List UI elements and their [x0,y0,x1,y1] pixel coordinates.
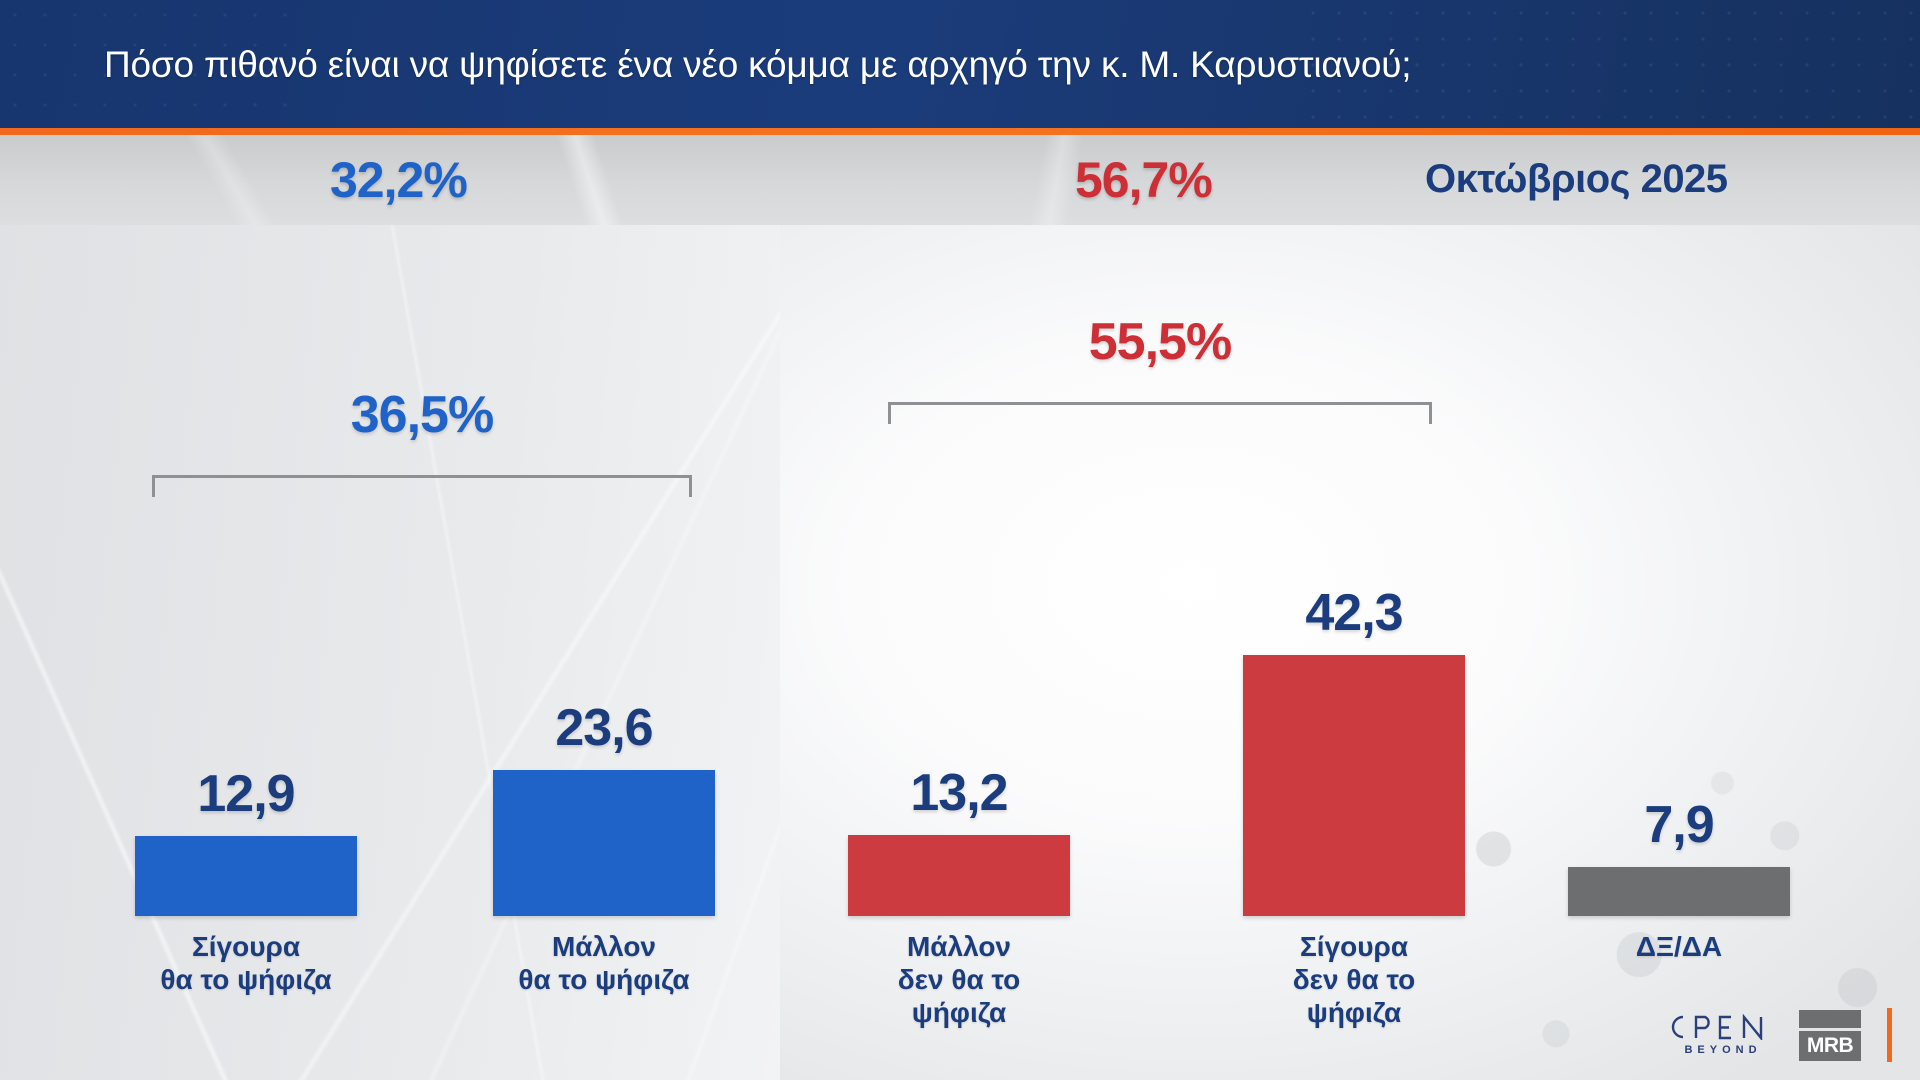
bar-column: 7,9ΔΞ/ΔΑ [1568,867,1790,916]
bar-rect [1243,655,1465,916]
bracket-tick-right [689,475,692,497]
bracket-span-line [888,402,1432,405]
bar-rect [1568,867,1790,916]
bar-column: 23,6Μάλλον θα το ψήφιζα [493,770,715,916]
footer-logos: BEYOND MRB [1669,1008,1892,1062]
open-wordmark [1669,1014,1773,1040]
mrb-logo-name-block: MRB [1799,1031,1861,1061]
header-band: Πόσο πιθανό είναι να ψηφίσετε ένα νέο κό… [0,0,1920,128]
bracket-tick-left [152,475,155,497]
bar-category-label: Μάλλον δεν θα το ψήφιζα [848,930,1070,1029]
bar-rect [848,835,1070,916]
bar-value-label: 7,9 [1568,795,1790,855]
bar-value-label: 23,6 [493,698,715,758]
summary-strip: 32,2% 56,7% Οκτώβριος 2025 [0,135,1920,225]
bracket-tick-left [888,402,891,424]
bar-column: 42,3Σίγουρα δεν θα το ψήφιζα [1243,655,1465,916]
chart-plot-area: 36,5% 55,5% 12,9Σίγουρα θα το ψήφιζα23,6… [0,225,1920,1080]
mrb-logo-text: MRB [1807,1034,1853,1058]
bar-category-label: Μάλλον θα το ψήφιζα [493,930,715,996]
summary-negative-total: 56,7% [1075,151,1212,209]
mrb-logo: MRB [1799,1010,1861,1061]
summary-positive-total: 32,2% [330,151,467,209]
open-letters-icon [1669,1014,1773,1040]
bar-value-label: 12,9 [135,764,357,824]
bar-column: 12,9Σίγουρα θα το ψήφιζα [135,836,357,916]
bar-category-label: ΔΞ/ΔΑ [1568,930,1790,963]
mrb-logo-bar [1799,1010,1861,1028]
bar-rect [135,836,357,916]
bracket-span-line [152,475,692,478]
page-title: Πόσο πιθανό είναι να ψηφίσετε ένα νέο κό… [104,44,1411,86]
bracket-tick-right [1429,402,1432,424]
open-tagline: BEYOND [1680,1044,1761,1056]
bracket-negative: 55,5% [888,380,1432,424]
bar-category-label: Σίγουρα δεν θα το ψήφιζα [1243,930,1465,1029]
open-beyond-logo: BEYOND [1669,1014,1773,1056]
orange-accent-rule [0,128,1920,135]
bar-value-label: 42,3 [1243,583,1465,643]
bracket-positive: 36,5% [152,453,692,497]
orange-tick-mark [1887,1008,1892,1062]
bracket-total-label: 36,5% [152,385,692,445]
bar-category-label: Σίγουρα θα το ψήφιζα [135,930,357,996]
bar-value-label: 13,2 [848,763,1070,823]
survey-date: Οκτώβριος 2025 [1425,157,1728,202]
bracket-total-label: 55,5% [888,312,1432,372]
bar-rect [493,770,715,916]
bar-column: 13,2Μάλλον δεν θα το ψήφιζα [848,835,1070,916]
